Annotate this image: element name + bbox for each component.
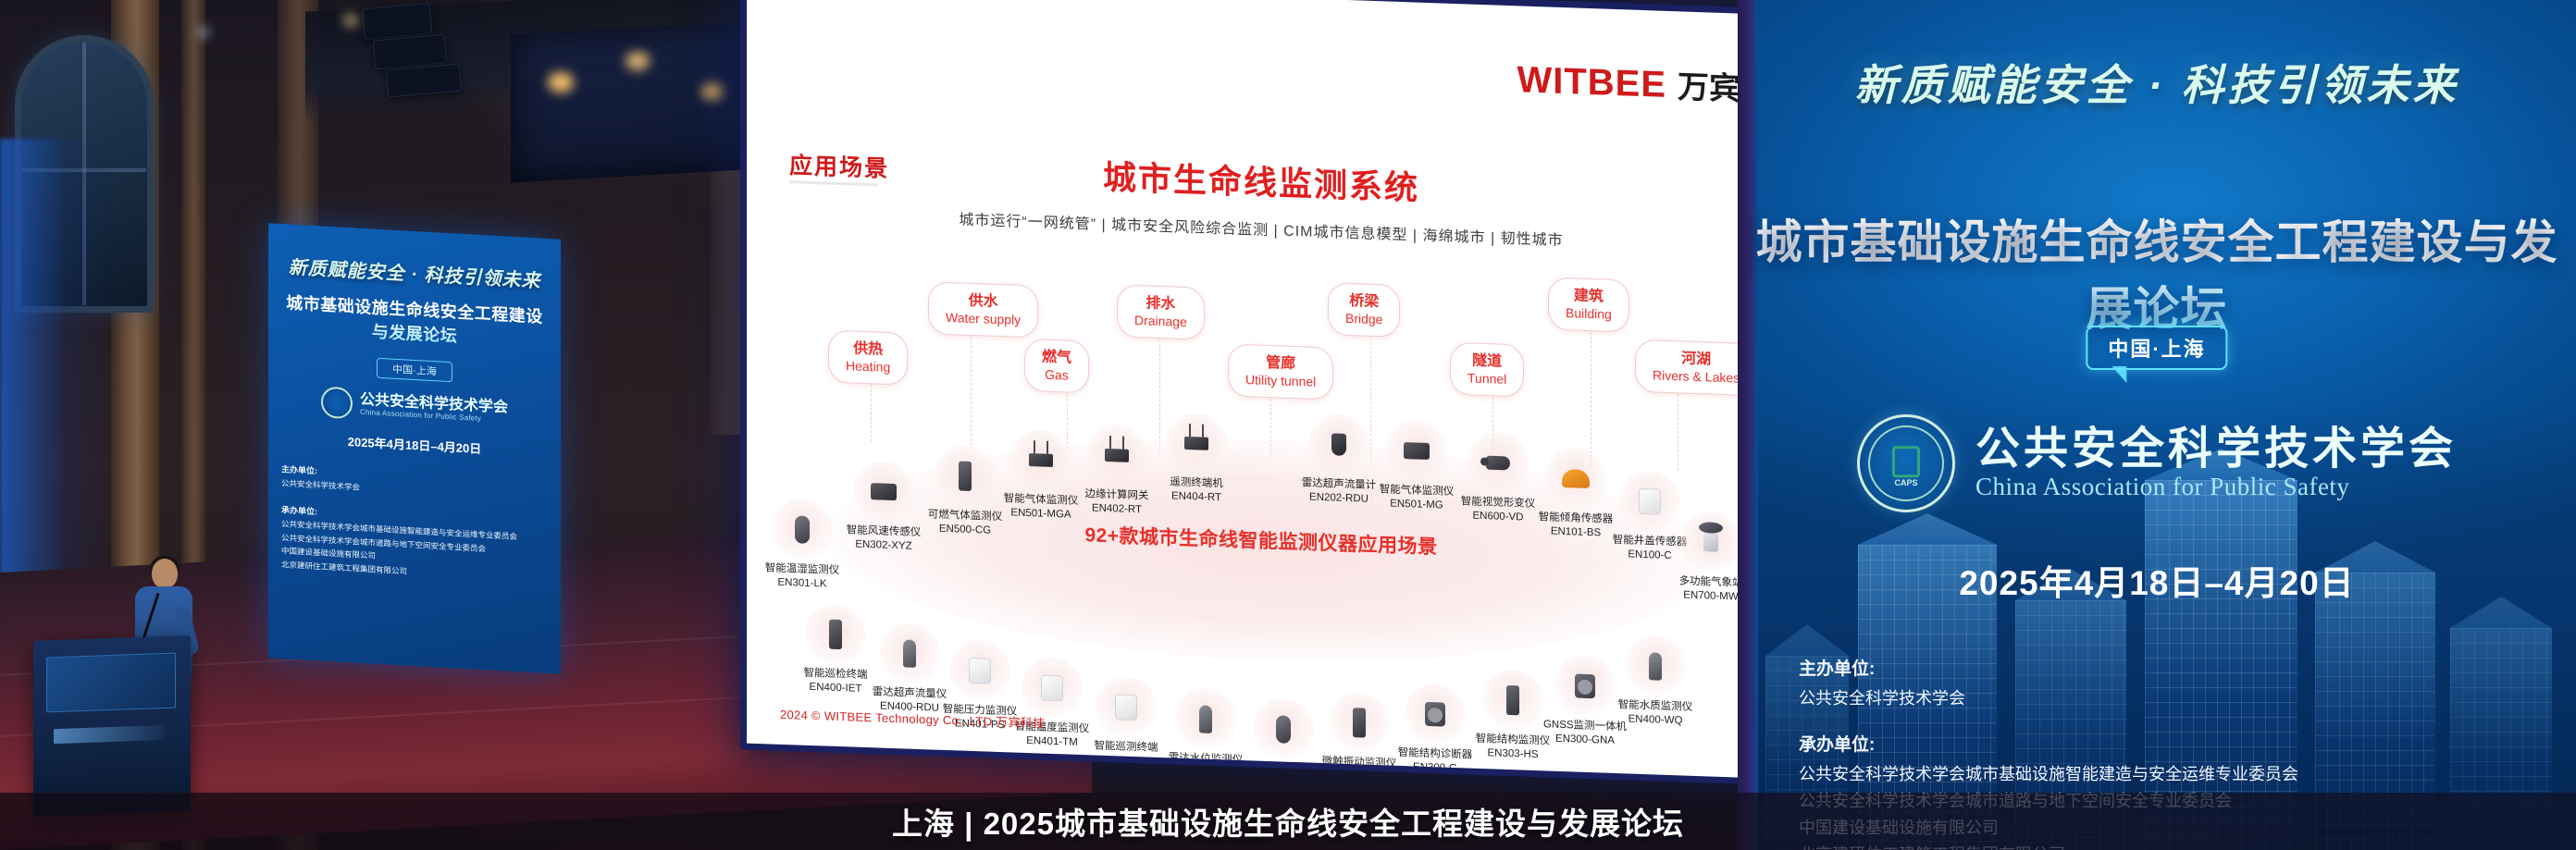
blue-wall-glow [0, 139, 111, 620]
bubble-stem [1678, 394, 1678, 470]
caps-seal-icon: CAPS [1857, 414, 1955, 512]
device-icon [1404, 442, 1430, 460]
host-line: 公共安全科学技术学会 [1799, 685, 1965, 712]
podium-logo-strip [54, 725, 165, 744]
category-bubble: 供水Water supply [928, 281, 1038, 338]
mini-organizer-line: 北京建研住工建筑工程集团有限公司 [281, 560, 407, 575]
category-bubble: 排水Drainage [1117, 284, 1205, 339]
device-halo [772, 499, 833, 561]
stage-spotlight [198, 28, 209, 37]
device-model: EN301-AS [1304, 768, 1415, 779]
bubble-stem [971, 337, 972, 446]
device-icon [1029, 453, 1053, 467]
device-icon [903, 639, 916, 667]
screenshot-root: 新质赋能安全 · 科技引领未来 城市基础设施生命线安全工程建设与发展论坛 中国·… [0, 0, 2576, 850]
podium [33, 635, 191, 817]
device-icon [1575, 673, 1595, 698]
slide-content: WITBEE 万宾 应用场景 城市生命线监测系统 城市运行“一网统管” | 城市… [747, 0, 1776, 779]
device-icon [829, 620, 842, 649]
category-bubble: 建筑Building [1548, 277, 1629, 332]
banner-forum-title: 城市基础设施生命线安全工程建设与发展论坛 [1738, 205, 2576, 339]
device-icon [1105, 449, 1129, 462]
category-bubbles: 供热Heating供水Water supply燃气Gas排水Drainage管廊… [747, 239, 1776, 450]
stage-spotlight [625, 52, 650, 70]
device-icon [1331, 433, 1346, 456]
device-halo [1096, 676, 1157, 739]
mini-host-line: 公共安全科学技术学会 [281, 478, 360, 492]
stage-spotlight [701, 83, 724, 100]
event-banner: 新质赋能安全 · 科技引领未来 城市基础设施生命线安全工程建设与发展论坛 中国·… [1738, 0, 2576, 850]
podium-screen [46, 653, 176, 713]
mini-host-heading: 主办单位: [281, 464, 317, 475]
mini-location-badge: 中国·上海 [377, 358, 452, 383]
device-icon [1115, 694, 1137, 721]
category-bubble: 供热Heating [828, 330, 908, 386]
category-bubble: 管廊Utility tunnel [1228, 344, 1333, 400]
banner-association: CAPS 公共安全科学技术学会 China Association for Pu… [1738, 414, 2576, 512]
device-icon [1041, 675, 1063, 702]
association-text: 公共安全科学技术学会 China Association for Public … [1975, 425, 2457, 502]
organizer-line: 公共安全科学技术学会城市基础设施智能建造与安全运维专业委员会 [1799, 761, 2298, 788]
device-name: 地埋式积水监测仪 [1228, 761, 1339, 779]
device-icon [871, 483, 897, 500]
device-row-bottom: 智能巡检终端EN400-IET雷达超声流量仪EN400-RDU智能压力监测仪EN… [747, 0, 1776, 15]
bubble-label-cn: 建筑 [1566, 287, 1612, 306]
bubble-label-en: Drainage [1134, 313, 1187, 330]
association-name-cn: 公共安全科学技术学会 [1975, 425, 2457, 474]
device-icon [959, 461, 972, 490]
presentation-screen: WITBEE 万宾 应用场景 城市生命线监测系统 城市运行“一网统管” | 城市… [740, 0, 1795, 805]
device-model: EN200-D [1150, 765, 1261, 779]
device-icon [1506, 685, 1519, 715]
device-icon [1562, 469, 1590, 488]
witbee-logo: WITBEE 万宾 [1517, 55, 1740, 108]
device-model: EN300-G [1380, 759, 1491, 777]
device-halo [1166, 412, 1227, 474]
bubble-label-en: Bridge [1345, 310, 1382, 326]
device-row-top: 智能温湿监测仪EN301-LK智能风速传感仪EN302-XYZ可燃气体监测仪EN… [747, 0, 1776, 15]
bubble-label-cn: 燃气 [1042, 349, 1071, 368]
device-icon [1649, 652, 1662, 680]
bubble-label-en: Gas [1042, 366, 1071, 383]
mini-date: 2025年4月18日–4月20日 [281, 428, 548, 461]
banner-location-badge: 中国·上海 [2086, 326, 2227, 370]
category-bubble: 燃气Gas [1024, 339, 1089, 393]
stage-mini-poster: 新质赋能安全 · 科技引领未来 城市基础设施生命线安全工程建设与发展论坛 中国·… [268, 223, 561, 673]
line-array-speaker [373, 34, 447, 70]
device-icon [1703, 533, 1718, 552]
device-halo [1625, 634, 1686, 697]
speaker-head [152, 559, 178, 588]
device-model: EN200-C [1228, 774, 1339, 778]
bubble-label-en: Utility tunnel [1245, 372, 1316, 390]
device-icon [1353, 708, 1366, 737]
mini-organizer-heading: 承办单位: [281, 505, 317, 516]
caption-text: 上海 | 2025城市基础设施生命线安全工程建设与发展论坛 [892, 799, 1684, 844]
device-halo [1386, 419, 1447, 482]
mini-calligraphy: 新质赋能安全 · 科技引领未来 [281, 252, 548, 293]
banner-date: 2025年4月18日–4月20日 [1738, 555, 2576, 605]
device-icon [1199, 705, 1212, 733]
category-bubble: 桥梁Bridge [1328, 282, 1400, 337]
screen-bezel: WITBEE 万宾 应用场景 城市生命线监测系统 城市运行“一网统管” | 城市… [740, 0, 1782, 785]
device-icon [1276, 715, 1291, 744]
banner-calligraphy: 新质赋能安全 · 科技引领未来 [1738, 52, 2576, 113]
device-halo [1086, 424, 1147, 487]
mini-organizer-block: 主办单位: 公共安全科学技术学会 承办单位: 公共安全科学技术学会城市基础设施智… [281, 462, 548, 585]
bubble-label-en: Heating [846, 358, 890, 376]
mini-forum-title: 城市基础设施生命线安全工程建设与发展论坛 [281, 289, 548, 352]
bubble-label-en: Water supply [946, 310, 1021, 328]
stage-spotlight [548, 72, 574, 92]
caption-bar: 上海 | 2025城市基础设施生命线安全工程建设与发展论坛 [0, 793, 2576, 850]
seal-abbr: CAPS [1860, 478, 1952, 487]
category-bubble: 隧道Tunnel [1450, 342, 1524, 397]
device-model: EN301-LK [747, 575, 858, 593]
device-halo [1680, 511, 1741, 573]
bubble-label-en: Rivers & Lakes [1653, 367, 1740, 386]
host-block: 主办单位: 公共安全科学技术学会 [1799, 655, 1965, 712]
mini-seal-icon [321, 386, 353, 419]
device-icon [795, 515, 810, 544]
device-icon [969, 658, 991, 684]
mini-association: 公共安全科学技术学会 China Association for Public … [281, 384, 548, 430]
association-name-en: China Association for Public Safety [1975, 473, 2457, 501]
mini-organizer-line: 中国建设基础设施有限公司 [281, 546, 376, 561]
host-heading: 主办单位: [1799, 655, 1965, 680]
organizer-heading: 承办单位: [1799, 731, 2298, 756]
bubble-stem [1591, 332, 1591, 467]
bubble-label-en: Building [1566, 305, 1612, 323]
bubble-label-en: Tunnel [1468, 370, 1506, 388]
bubble-label-cn: 隧道 [1468, 351, 1506, 371]
bubble-label-cn: 供热 [846, 339, 890, 359]
device-node: 智能水质监测仪EN400-WQ [1600, 634, 1711, 729]
witbee-logo-cn: 万宾 [1678, 61, 1740, 108]
stage-spotlight [344, 15, 357, 26]
bubble-stem [871, 385, 872, 442]
device-icon [1425, 702, 1445, 727]
device-icon [1486, 456, 1510, 471]
bubble-label-cn: 管廊 [1245, 353, 1316, 374]
line-array-speaker [362, 3, 433, 40]
device-halo [853, 461, 914, 524]
device-node: 遥测终端机EN404-RT [1141, 411, 1252, 506]
bubble-label-cn: 桥梁 [1345, 292, 1382, 312]
device-icon [1184, 437, 1208, 450]
bubble-label-cn: 排水 [1134, 294, 1187, 314]
seal-emblem [1892, 446, 1920, 477]
witbee-logo-latin: WITBEE [1517, 59, 1666, 106]
